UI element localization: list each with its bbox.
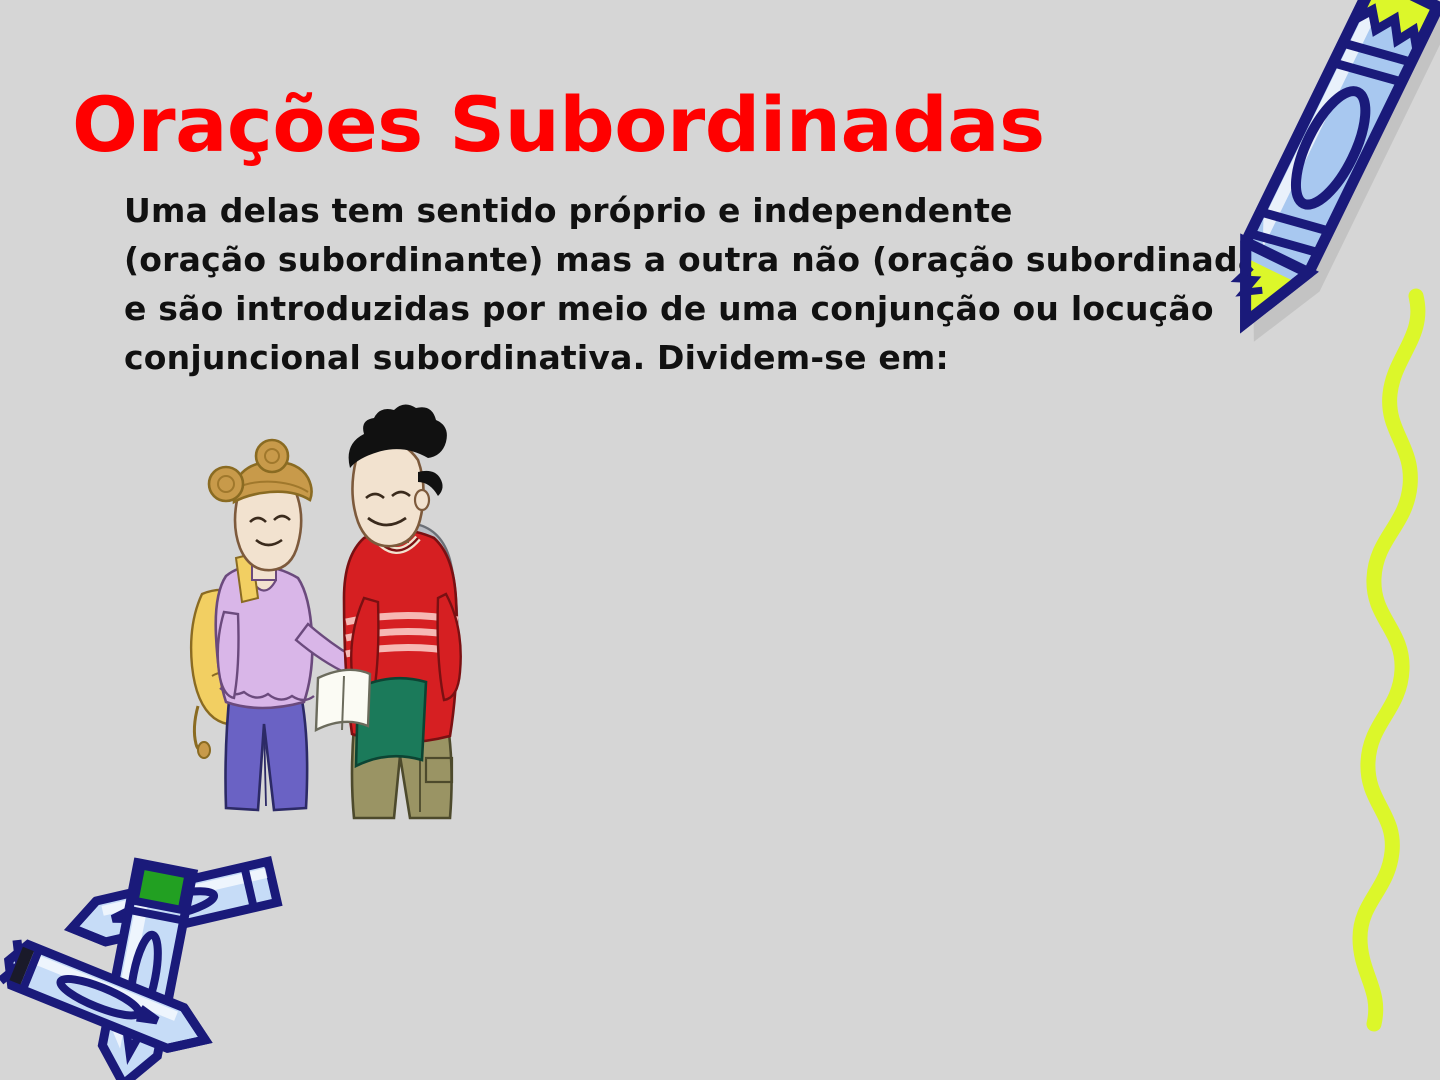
intro-line-1: Uma delas tem sentido próprio e independ… [124,186,1324,235]
students-clipart [168,426,508,818]
page-title: Orações Subordinadas [72,82,1045,168]
presentation-slide: Orações Subordinadas Uma delas tem senti… [0,0,1440,1080]
pencils-clipart [0,848,314,1080]
intro-line-2: (oração subordinante) mas a outra não (o… [124,235,1324,284]
intro-paragraph: Uma delas tem sentido próprio e independ… [124,186,1324,382]
crayon-squiggle-icon [1330,290,1440,1030]
intro-line-4: conjuncional subordinativa. Dividem-se e… [124,333,1324,382]
intro-line-3: e são introduzidas por meio de uma conju… [124,284,1324,333]
